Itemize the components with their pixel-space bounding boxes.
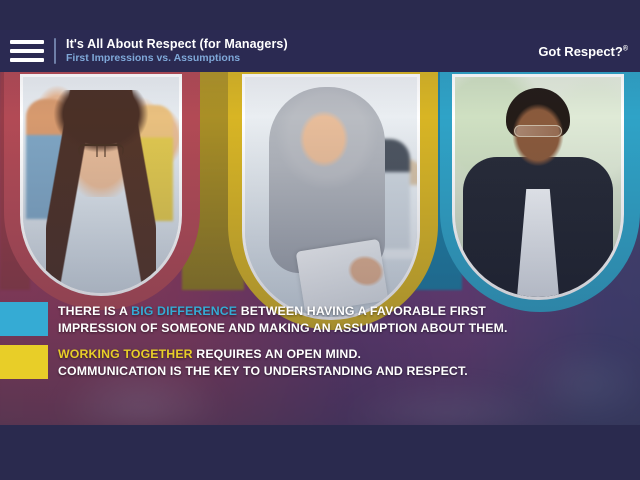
statement-text-after: BETWEEN HAVING A FAVORABLE FIRST bbox=[237, 304, 486, 318]
statement-text-after: REQUIRES AN OPEN MIND. bbox=[193, 347, 361, 361]
header-titles: It's All About Respect (for Managers) Fi… bbox=[66, 38, 288, 65]
statement-line-1: WORKING TOGETHER REQUIRES AN OPEN MIND. bbox=[58, 346, 468, 363]
hamburger-menu-icon[interactable] bbox=[10, 40, 44, 62]
statement-swatch-yellow bbox=[0, 345, 48, 379]
hamburger-bar bbox=[10, 58, 44, 62]
header-bar: It's All About Respect (for Managers) Fi… bbox=[0, 30, 640, 72]
statement-highlight: BIG DIFFERENCE bbox=[131, 304, 237, 318]
statement-text: THERE IS A BIG DIFFERENCE BETWEEN HAVING… bbox=[58, 302, 508, 336]
statement-line-2: IMPRESSION OF SOMEONE AND MAKING AN ASSU… bbox=[58, 320, 508, 337]
statement-text-before: THERE IS A bbox=[58, 304, 131, 318]
statement-highlight: WORKING TOGETHER bbox=[58, 347, 193, 361]
statement-list: THERE IS A BIG DIFFERENCE BETWEEN HAVING… bbox=[0, 302, 640, 389]
statement-swatch-cyan bbox=[0, 302, 48, 336]
course-title: It's All About Respect (for Managers) bbox=[66, 38, 288, 52]
slide-viewer: THERE IS A BIG DIFFERENCE BETWEEN HAVING… bbox=[0, 0, 640, 480]
statement-text: WORKING TOGETHER REQUIRES AN OPEN MIND. … bbox=[58, 345, 468, 379]
registered-mark-icon: ® bbox=[623, 45, 628, 52]
brand-logo: Got Respect?® bbox=[538, 44, 628, 59]
slide-canvas: THERE IS A BIG DIFFERENCE BETWEEN HAVING… bbox=[0, 30, 640, 425]
header-divider bbox=[54, 38, 56, 64]
hamburger-bar bbox=[10, 49, 44, 53]
lesson-subtitle: First Impressions vs. Assumptions bbox=[66, 53, 288, 64]
statement-line-1: THERE IS A BIG DIFFERENCE BETWEEN HAVING… bbox=[58, 303, 508, 320]
brand-name: Got Respect? bbox=[538, 44, 623, 59]
hamburger-bar bbox=[10, 40, 44, 44]
statement-row: WORKING TOGETHER REQUIRES AN OPEN MIND. … bbox=[0, 345, 640, 379]
statement-row: THERE IS A BIG DIFFERENCE BETWEEN HAVING… bbox=[0, 302, 640, 336]
statement-line-2: COMMUNICATION IS THE KEY TO UNDERSTANDIN… bbox=[58, 363, 468, 380]
